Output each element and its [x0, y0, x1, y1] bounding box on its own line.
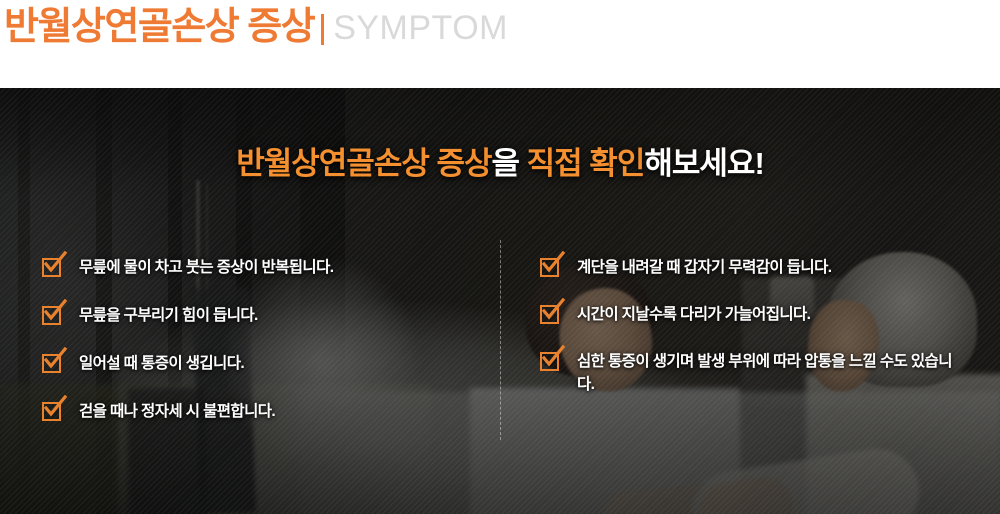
headline-plain-1: 을 [492, 146, 527, 181]
checkmark-icon [42, 306, 61, 325]
list-item: 심한 통증이 생기며 발생 부위에 따라 압통을 느낄 수도 있습니다. [540, 350, 960, 396]
list-item-label: 시간이 지날수록 다리가 가늘어집니다. [577, 303, 810, 326]
headline-accent-2: 직접 확인 [527, 146, 645, 181]
title-separator-bar [321, 14, 324, 45]
list-item: 일어설 때 통증이 생깁니다. [42, 352, 462, 375]
list-item: 계단을 내려갈 때 갑자기 무력감이 듭니다. [540, 256, 960, 279]
list-item-label: 계단을 내려갈 때 갑자기 무력감이 듭니다. [577, 256, 831, 279]
list-item-label: 일어설 때 통증이 생깁니다. [79, 352, 244, 375]
checkmark-icon [540, 258, 559, 277]
hero-content: 반월상연골손상 증상을 직접 확인해보세요! 무릎에 물이 차고 붓는 증상이 … [0, 88, 1000, 514]
header-title-group: 반월상연골손상 증상 SYMPTOM [4, 5, 508, 49]
list-item-label: 심한 통증이 생기며 발생 부위에 따라 압통을 느낄 수도 있습니다. [577, 350, 960, 396]
page-title-english: SYMPTOM [333, 9, 508, 49]
headline-accent-1: 반월상연골손상 증상 [236, 146, 491, 181]
list-item-label: 무릎에 물이 차고 붓는 증상이 반복됩니다. [79, 256, 333, 279]
symptom-column-right: 계단을 내려갈 때 갑자기 무력감이 듭니다. 시간이 지날수록 다리가 가늘어… [540, 256, 960, 420]
list-item-label: 걷을 때나 정자세 시 불편합니다. [79, 400, 275, 423]
checkmark-icon [42, 258, 61, 277]
checkmark-icon [42, 402, 61, 421]
list-item: 걷을 때나 정자세 시 불편합니다. [42, 400, 462, 423]
checkmark-icon [540, 352, 559, 371]
list-item: 시간이 지날수록 다리가 가늘어집니다. [540, 303, 960, 326]
page-title-korean: 반월상연골손상 증상 [4, 5, 314, 49]
checkmark-icon [42, 354, 61, 373]
symptom-page: 반월상연골손상 증상 SYMPTOM [0, 0, 1000, 514]
list-item: 무릎을 구부리기 힘이 듭니다. [42, 304, 462, 327]
column-divider [500, 240, 501, 440]
hero-banner: 반월상연골손상 증상을 직접 확인해보세요! 무릎에 물이 차고 붓는 증상이 … [0, 88, 1000, 514]
page-header: 반월상연골손상 증상 SYMPTOM [0, 0, 1000, 88]
headline-plain-2: 해보세요! [644, 146, 763, 181]
list-item-label: 무릎을 구부리기 힘이 듭니다. [79, 304, 258, 327]
list-item: 무릎에 물이 차고 붓는 증상이 반복됩니다. [42, 256, 462, 279]
checkmark-icon [540, 305, 559, 324]
symptom-column-left: 무릎에 물이 차고 붓는 증상이 반복됩니다. 무릎을 구부리기 힘이 듭니다. [42, 256, 462, 448]
hero-headline: 반월상연골손상 증상을 직접 확인해보세요! [0, 144, 1000, 184]
